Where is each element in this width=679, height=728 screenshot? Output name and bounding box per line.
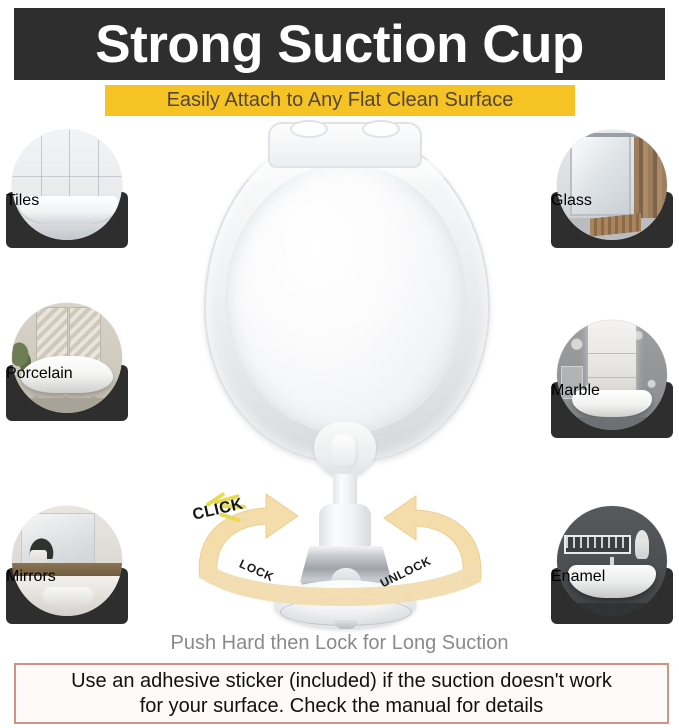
product-illustration (180, 122, 510, 642)
stem-barrel (319, 504, 371, 552)
mirror-top-clip (268, 122, 422, 168)
surface-photo-marble (557, 320, 667, 430)
adhesive-notice-box: Use an adhesive sticker (included) if th… (14, 663, 669, 724)
push-hard-caption: Push Hard then Lock for Long Suction (0, 632, 679, 655)
page-title: Strong Suction Cup (95, 18, 584, 71)
surface-photo-enamel (557, 506, 667, 616)
scene-mirrors (12, 506, 122, 616)
infographic-page: Strong Suction Cup Easily Attach to Any … (0, 0, 679, 728)
scene-porcelain (12, 303, 122, 413)
notice-line-1: Use an adhesive sticker (included) if th… (71, 670, 612, 692)
mirror-glass (226, 164, 466, 434)
subtitle-text: Easily Attach to Any Flat Clean Surface (167, 89, 514, 112)
subtitle-band: Easily Attach to Any Flat Clean Surface (105, 85, 575, 116)
notice-line-2: for your surface. Check the manual for d… (140, 695, 544, 717)
scene-tiles (12, 130, 122, 240)
surface-photo-porcelain (12, 303, 122, 413)
title-banner: Strong Suction Cup (14, 8, 665, 80)
surface-photo-mirrors (12, 506, 122, 616)
scene-marble (557, 320, 667, 430)
adhesive-notice-text: Use an adhesive sticker (included) if th… (63, 669, 620, 718)
suction-cup-tab (335, 620, 357, 629)
surface-photo-tiles (12, 130, 122, 240)
scene-glass (557, 130, 667, 240)
ball-knuckle (332, 434, 358, 468)
scene-enamel (557, 506, 667, 616)
surface-photo-glass (557, 130, 667, 240)
